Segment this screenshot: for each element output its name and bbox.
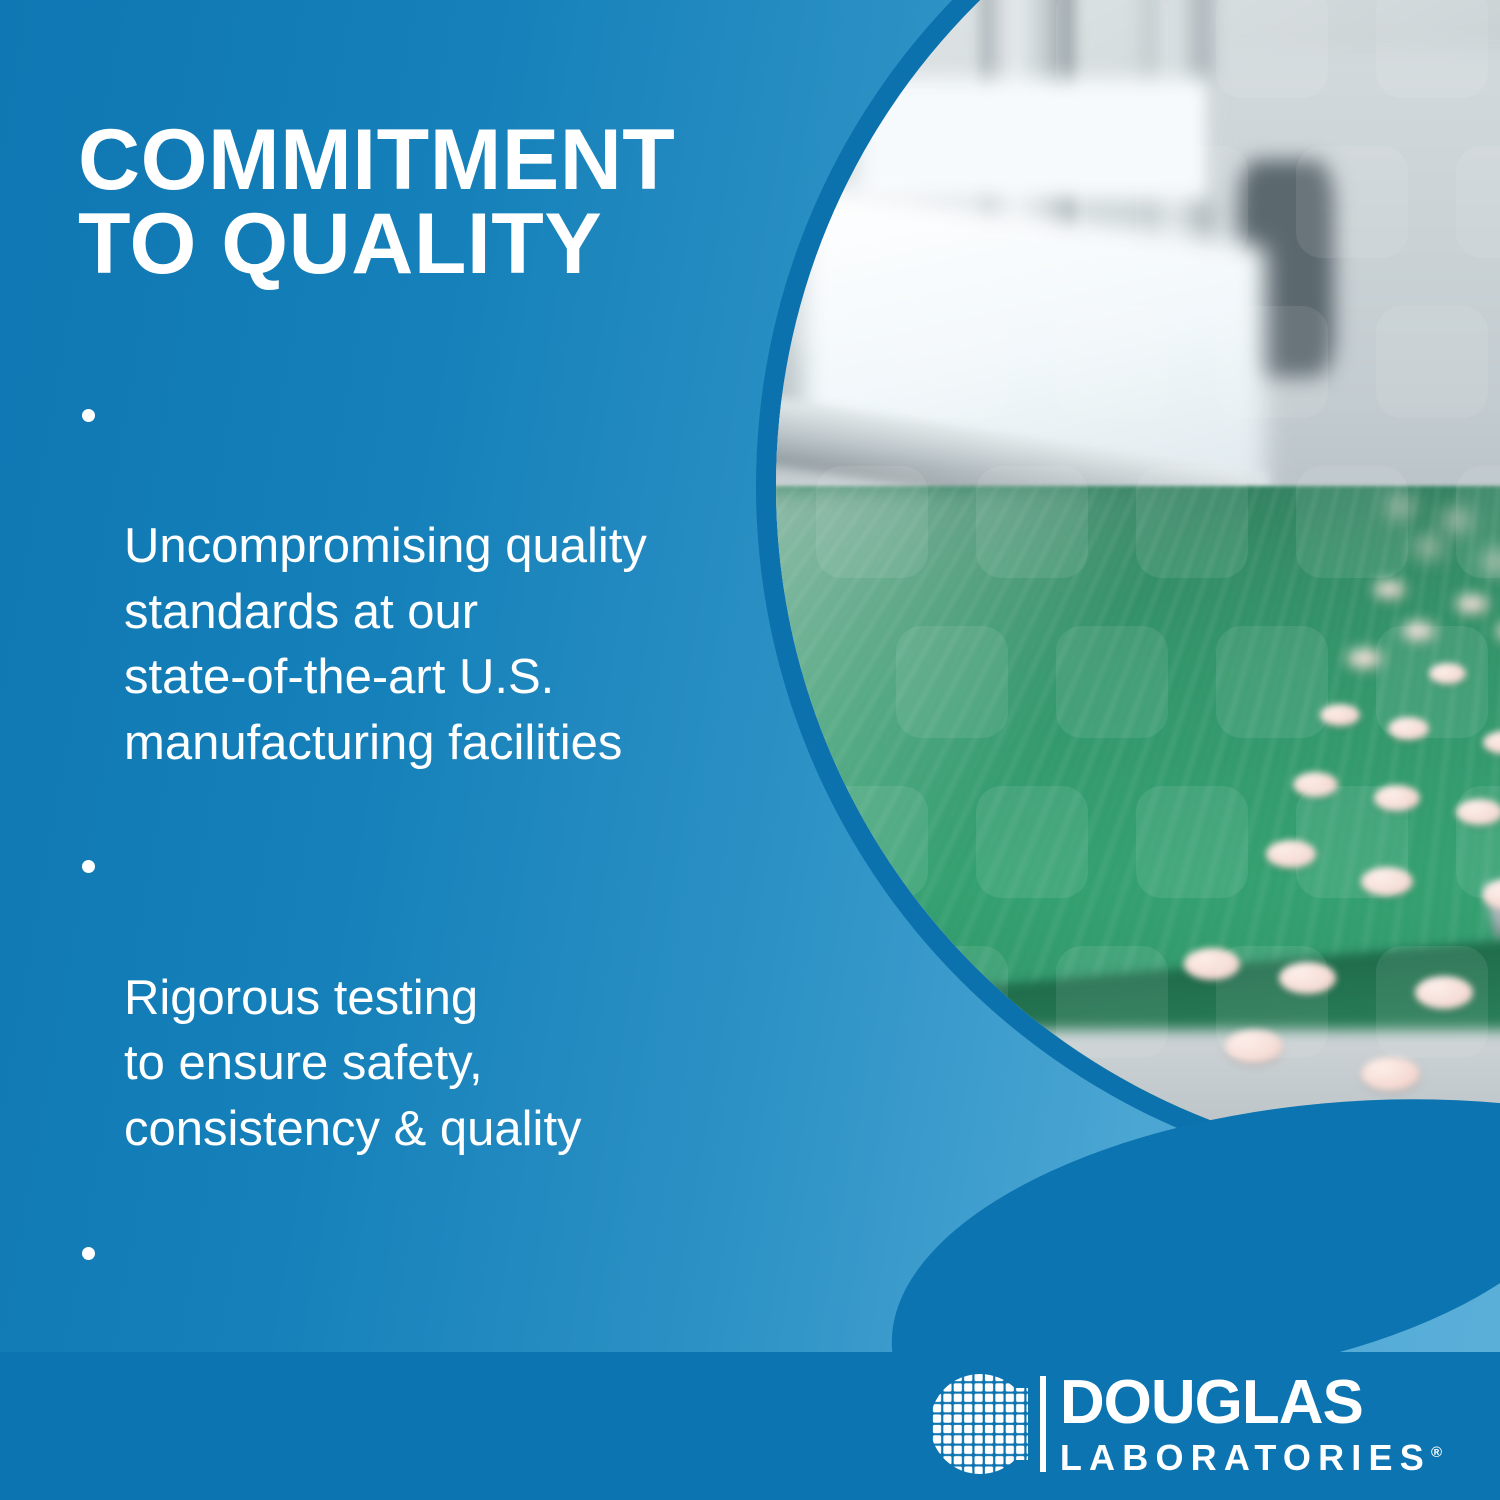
list-item: Uncompromising quality standards at our … [78,383,778,777]
benefit-list: Uncompromising quality standards at our … [78,383,778,1484]
page-title: COMMITMENT TO QUALITY [78,118,778,287]
photo-light-panel-upper [858,78,1212,200]
logo-divider [1040,1376,1046,1472]
douglas-globe-grid-icon [932,1372,1028,1476]
photo-circle [776,0,1500,1166]
content-block: COMMITMENT TO QUALITY Uncompromising qua… [78,118,778,1500]
photo-tablet [1456,799,1500,825]
logo-name-primary: DOUGLAS [1060,1372,1442,1434]
marketing-banner: COMMITMENT TO QUALITY Uncompromising qua… [0,0,1500,1500]
list-item-text: Uncompromising quality standards at our … [124,519,647,770]
bullet-dot-icon [82,409,95,422]
photo-tablet [1279,962,1336,994]
registered-trademark-icon: ® [1431,1444,1442,1461]
photo-tablet [1429,663,1466,684]
logo-wordmark: DOUGLAS LABORATORIES® [1060,1372,1442,1476]
list-item: Rigorous testing to ensure safety, consi… [78,834,778,1162]
logo-name-secondary: LABORATORIES® [1060,1440,1442,1476]
photo-tablet [1361,1057,1420,1091]
photo-tablet [1361,867,1413,896]
logo-name-secondary-text: LABORATORIES [1060,1437,1431,1478]
list-item-text: Rigorous testing to ensure safety, consi… [124,971,582,1156]
photo-tablet [1388,500,1414,514]
photo-tablet [1415,976,1473,1009]
photo-tablet [1266,840,1316,868]
photo-tablet [1320,704,1360,726]
bullet-dot-icon [82,1247,95,1260]
photo-tablet [1293,772,1338,797]
photo-tablet [1402,622,1435,640]
photo-tablet [1456,595,1488,613]
bullet-dot-icon [82,860,95,873]
brand-logo: DOUGLAS LABORATORIES® [932,1372,1442,1476]
photo-tablet [1225,1030,1283,1063]
manufacturing-photo [776,0,1500,1166]
